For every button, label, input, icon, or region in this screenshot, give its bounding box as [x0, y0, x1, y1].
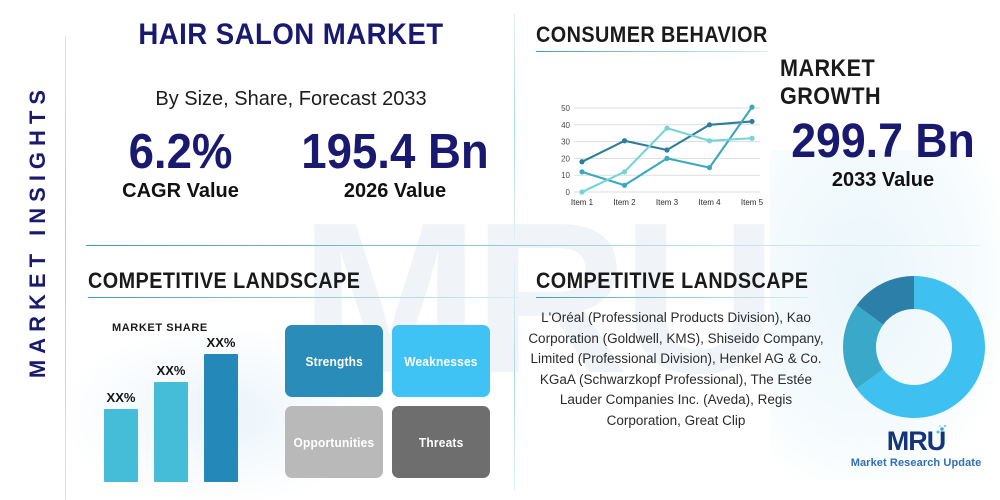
- swot-box-weaknesses[interactable]: Weaknesses: [392, 325, 490, 397]
- swot-grid: StrengthsWeaknessesOpportunitiesThreats: [285, 325, 490, 478]
- kpi-2026-label: 2026 Value: [280, 180, 510, 203]
- x-tick-label: Item 2: [613, 198, 636, 207]
- logo-dots-icon: [934, 423, 948, 437]
- section-competitive-landscape-right-title: COMPETITIVE LANDSCAPE: [536, 268, 808, 294]
- y-tick-label: 30: [561, 138, 570, 147]
- donut-chart-svg: [841, 274, 987, 420]
- consumer-behavior-line-chart: 01020304050Item 1Item 2Item 3Item 4Item …: [548, 100, 768, 218]
- section-rule: [536, 297, 808, 298]
- bar-value-label: XX%: [157, 363, 186, 378]
- data-point: [579, 159, 584, 164]
- swot-box-strengths[interactable]: Strengths: [285, 325, 383, 397]
- section-competitive-landscape-right: COMPETITIVE LANDSCAPE: [536, 268, 839, 298]
- section-competitive-landscape-left: COMPETITIVE LANDSCAPE: [88, 268, 518, 298]
- section-rule: [536, 51, 768, 52]
- data-point: [664, 147, 669, 152]
- data-point: [579, 189, 584, 194]
- section-consumer-behavior: CONSUMER BEHAVIOR: [536, 22, 793, 52]
- data-point: [707, 122, 712, 127]
- data-point: [749, 105, 754, 110]
- bar-column: XX%: [204, 332, 238, 482]
- market-share-donut-chart: [841, 274, 987, 420]
- company-list: L'Oréal (Professional Products Division)…: [528, 308, 824, 431]
- y-tick-label: 20: [561, 154, 570, 163]
- swot-box-threats[interactable]: Threats: [392, 406, 490, 478]
- logo-mark: MRU: [887, 428, 946, 455]
- page-title: HAIR SALON MARKET: [93, 18, 489, 52]
- kpi-cagr-label: CAGR Value: [78, 180, 283, 203]
- kpi-2033-label: 2033 Value: [770, 169, 996, 192]
- x-tick-label: Item 3: [656, 198, 679, 207]
- data-point: [622, 169, 627, 174]
- kpi-2033: 299.7 Bn 2033 Value: [770, 118, 996, 192]
- kpi-2026: 195.4 Bn 2026 Value: [280, 128, 510, 203]
- page-subtitle: By Size, Share, Forecast 2033: [76, 88, 506, 111]
- data-point: [664, 156, 669, 161]
- rail-label: MARKET INSIGHTS: [25, 11, 51, 451]
- left-rail: MARKET INSIGHTS: [0, 0, 66, 500]
- bar: [104, 409, 138, 482]
- kpi-cagr: 6.2% CAGR Value: [78, 128, 283, 203]
- swot-box-opportunities[interactable]: Opportunities: [285, 406, 383, 478]
- bar: [154, 382, 188, 482]
- rail-divider: [65, 36, 66, 500]
- market-growth-heading: MARKET GROWTH: [780, 55, 978, 111]
- line-series: [582, 107, 752, 185]
- data-point: [749, 119, 754, 124]
- section-consumer-behavior-title: CONSUMER BEHAVIOR: [536, 22, 768, 48]
- horizontal-divider: [86, 245, 980, 246]
- kpi-2026-value: 195.4 Bn: [288, 128, 502, 178]
- x-tick-label: Item 4: [698, 198, 721, 207]
- data-point: [707, 138, 712, 143]
- data-point: [622, 138, 627, 143]
- data-point: [749, 136, 754, 141]
- data-point: [622, 183, 627, 188]
- bar: [204, 354, 238, 482]
- y-tick-label: 10: [561, 171, 570, 180]
- section-rule: [88, 297, 518, 298]
- swot-box-label: Weaknesses: [404, 354, 477, 369]
- y-tick-label: 40: [561, 121, 570, 130]
- data-point: [664, 126, 669, 131]
- data-point: [707, 165, 712, 170]
- section-competitive-landscape-left-title: COMPETITIVE LANDSCAPE: [88, 268, 475, 294]
- data-point: [579, 169, 584, 174]
- x-tick-label: Item 1: [571, 198, 594, 207]
- swot-box-label: Threats: [419, 435, 464, 450]
- x-tick-label: Item 5: [741, 198, 764, 207]
- kpi-2033-value: 299.7 Bn: [778, 118, 988, 167]
- vertical-divider-top: [514, 14, 515, 240]
- bar-column: XX%: [104, 332, 138, 482]
- swot-box-label: Strengths: [305, 354, 362, 369]
- bar-column: XX%: [154, 332, 188, 482]
- swot-box-label: Opportunities: [294, 435, 375, 450]
- y-tick-label: 50: [561, 104, 570, 113]
- kpi-cagr-value: 6.2%: [85, 128, 276, 178]
- line-chart-svg: 01020304050Item 1Item 2Item 3Item 4Item …: [548, 100, 768, 218]
- bar-value-label: XX%: [107, 390, 136, 405]
- mru-logo: MRU Market Research Update: [846, 428, 986, 469]
- logo-subtitle: Market Research Update: [846, 457, 986, 469]
- market-share-bar-chart: MARKET SHARE XX%XX%XX%: [96, 322, 276, 482]
- bar-value-label: XX%: [207, 335, 236, 350]
- y-tick-label: 0: [566, 188, 571, 197]
